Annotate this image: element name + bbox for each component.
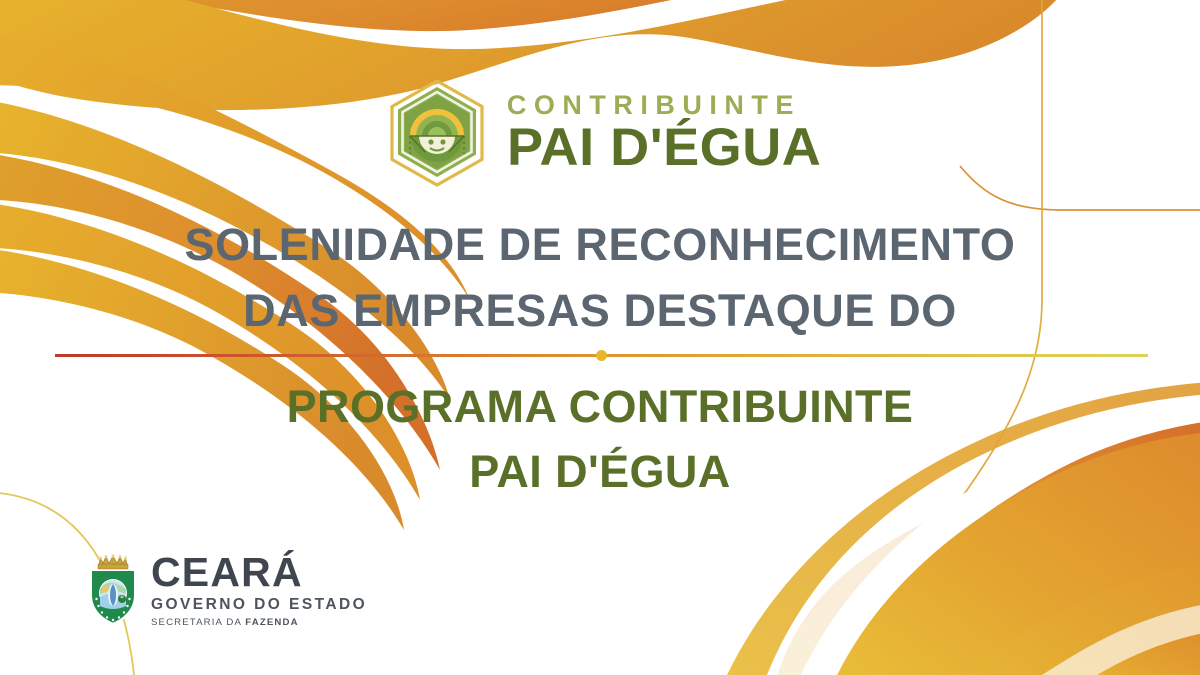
- gov-tier-2-prefix: SECRETARIA DA: [151, 617, 245, 628]
- subtitle: PROGRAMA CONTRIBUINTE PAI D'ÉGUA: [0, 374, 1200, 505]
- brand-logo: CONTRIBUINTE PAI D'ÉGUA: [0, 78, 1200, 188]
- hexagon-sun-face-badge-icon: [385, 78, 489, 188]
- government-logo: CEARÁ GOVERNO DO ESTADO SECRETARIA DA FA…: [86, 552, 367, 627]
- gov-tier-1: GOVERNO DO ESTADO: [151, 597, 367, 613]
- headline-line-2: DAS EMPRESAS DESTAQUE DO: [0, 278, 1200, 344]
- gradient-divider: [55, 350, 1148, 362]
- brand-logo-line1: CONTRIBUINTE: [507, 92, 801, 119]
- headline: SOLENIDADE DE RECONHECIMENTO DAS EMPRESA…: [0, 212, 1200, 343]
- subtitle-line-2: PAI D'ÉGUA: [0, 439, 1200, 504]
- divider-center-dot: [596, 350, 607, 361]
- gov-tier-2: SECRETARIA DA FAZENDA: [151, 618, 367, 628]
- gov-tier-2-emphasis: FAZENDA: [245, 617, 298, 628]
- gov-state-name: CEARÁ: [151, 552, 367, 593]
- presentation-slide: CONTRIBUINTE PAI D'ÉGUA SOLENIDADE DE RE…: [0, 0, 1200, 675]
- ceara-coat-of-arms-shield-icon: [86, 553, 140, 627]
- brand-logo-line2: PAI D'ÉGUA: [507, 121, 821, 174]
- headline-line-1: SOLENIDADE DE RECONHECIMENTO: [0, 212, 1200, 278]
- subtitle-line-1: PROGRAMA CONTRIBUINTE: [0, 374, 1200, 439]
